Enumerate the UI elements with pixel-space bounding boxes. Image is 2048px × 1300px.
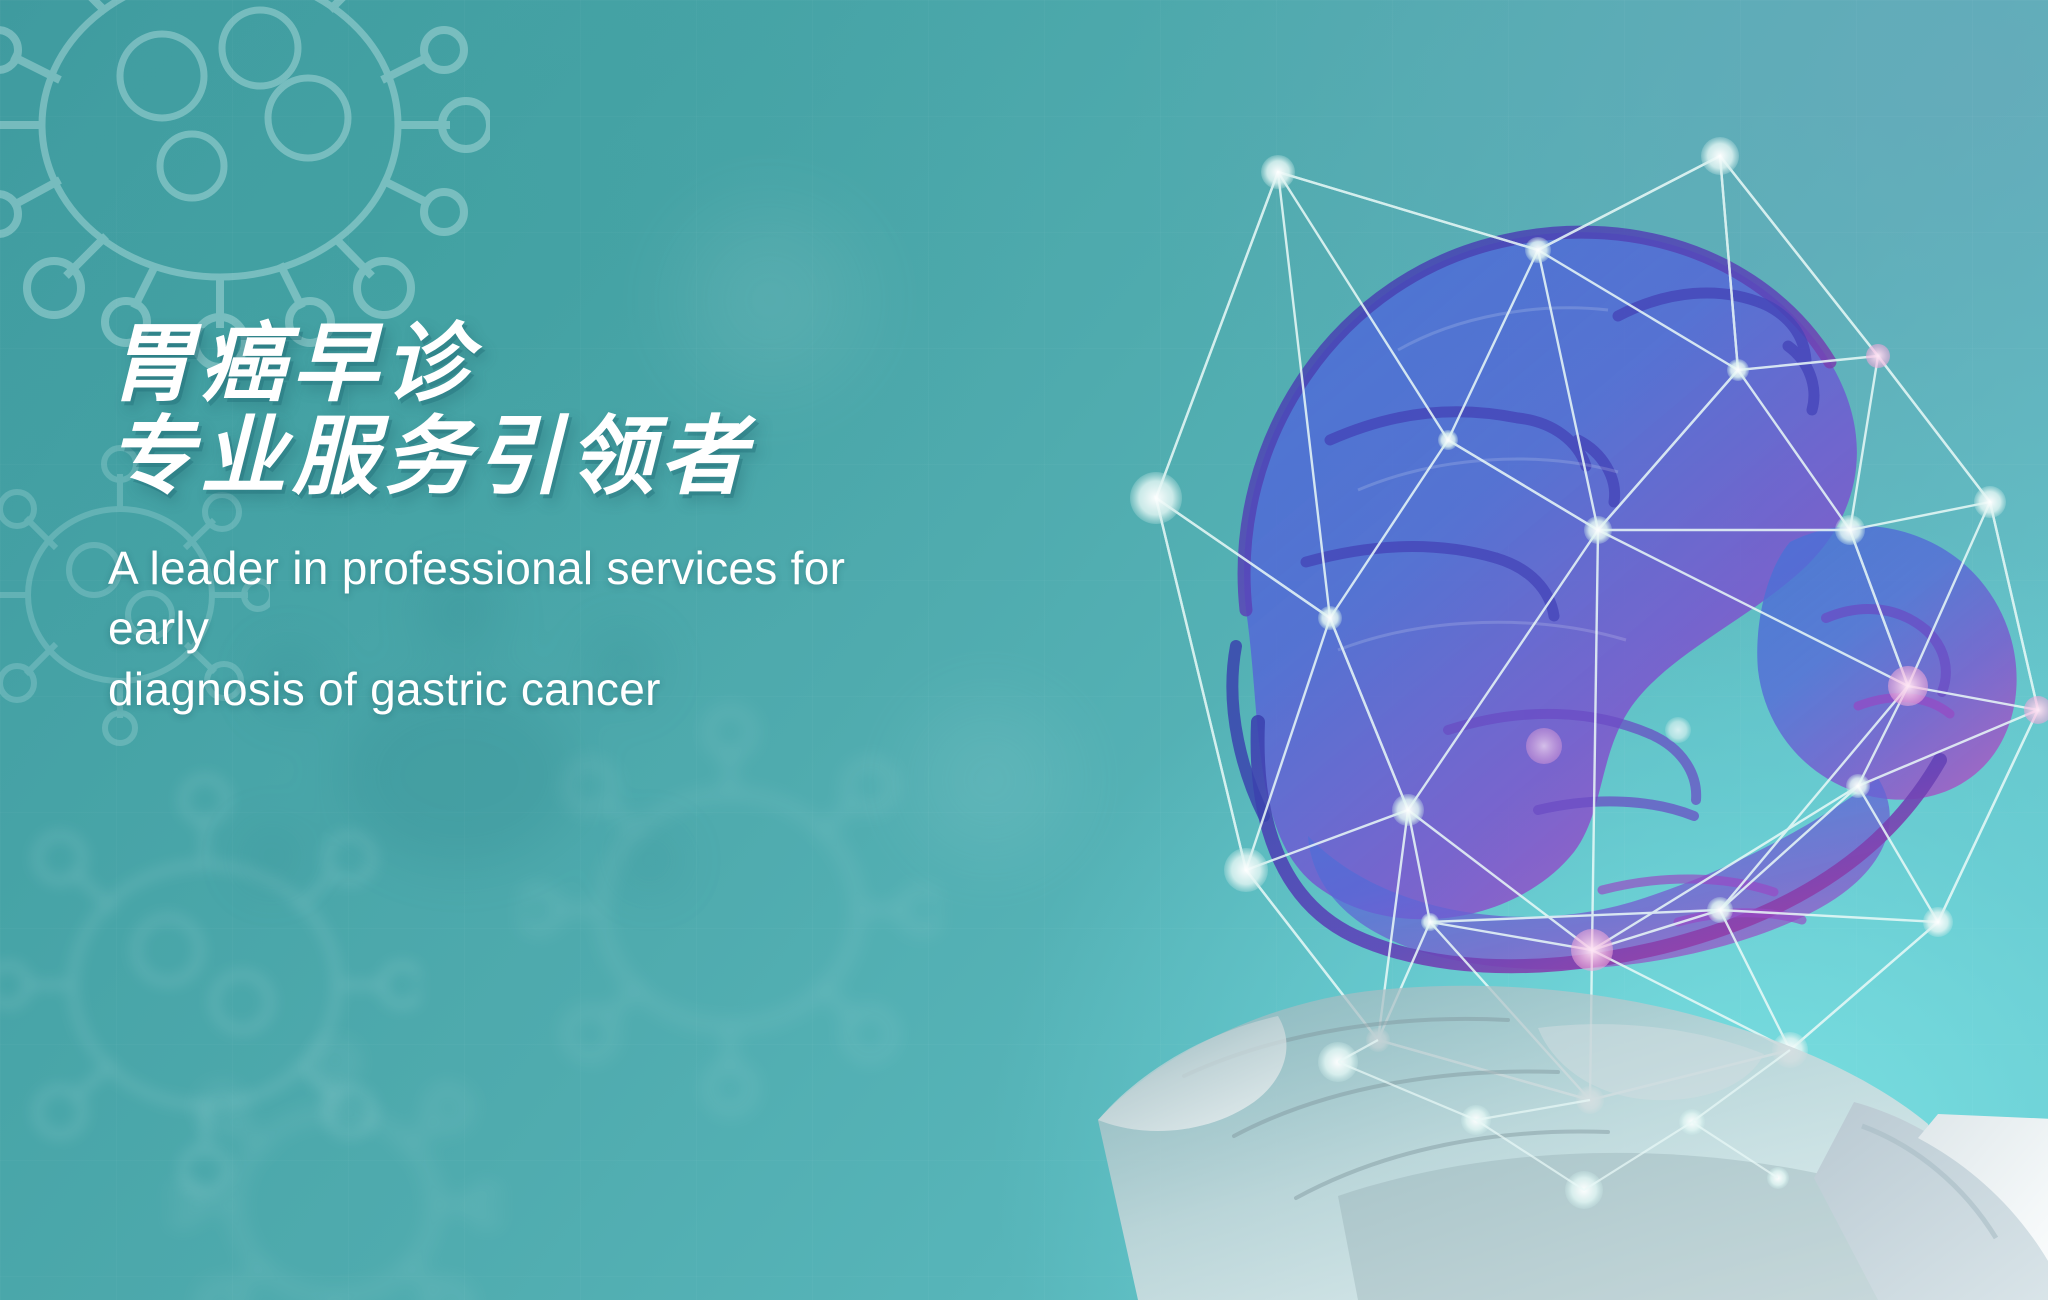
subtitle-line-1: A leader in professional services for ea… [108, 538, 918, 659]
hero-banner: 胃癌早诊 专业服务引领者 A leader in professional se… [0, 0, 2048, 1300]
coronavirus-icon [170, 1040, 500, 1300]
coronavirus-icon [0, 770, 420, 1200]
hero-text-block: 胃癌早诊 专业服务引领者 A leader in professional se… [108, 318, 1168, 720]
coronavirus-icon [520, 700, 940, 1120]
subtitle-line-2: diagnosis of gastric cancer [108, 659, 918, 720]
stomach-organ [1232, 232, 2016, 969]
headline-line-1: 胃癌早诊 [108, 318, 1168, 411]
page-title: 胃癌早诊 专业服务引领者 [108, 318, 1168, 504]
page-subtitle: A leader in professional services for ea… [108, 538, 918, 720]
open-hand-holding-organ [1098, 986, 2048, 1300]
headline-line-2: 专业服务引领者 [108, 411, 1168, 504]
